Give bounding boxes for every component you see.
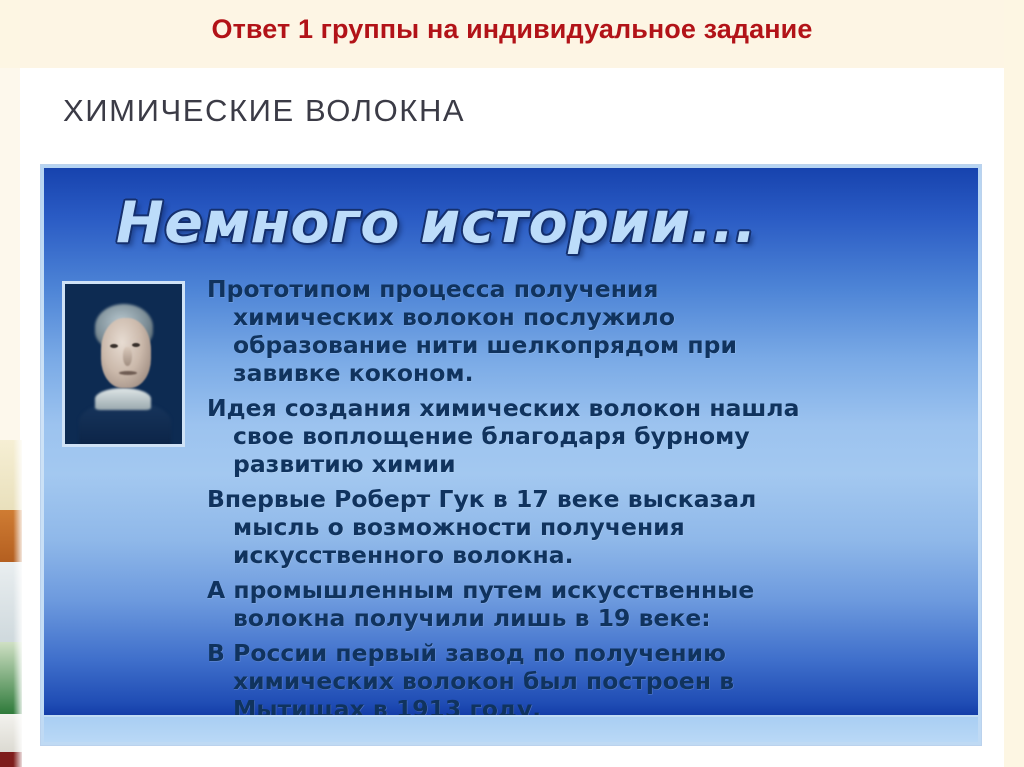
- portrait-eye-right: [132, 343, 140, 347]
- bullet-line: искусственного волокна.: [233, 541, 937, 569]
- portrait-frame: [62, 281, 185, 447]
- bullet-line: Идея создания химических волокон нашла: [207, 394, 937, 422]
- bullet-item-1: Прототипом процесса получения химических…: [207, 275, 937, 387]
- portrait-eye-left: [110, 344, 118, 348]
- bullet-line: химических волокон был построен в: [233, 667, 937, 695]
- portrait-nose: [123, 347, 132, 366]
- left-photo-strip: [0, 440, 22, 767]
- bullet-line: образование нити шелкопрядом при: [233, 331, 937, 359]
- slide-wordart-title: Немного истории...: [116, 190, 757, 256]
- top-banner: Ответ 1 группы на индивидуальное задание: [0, 0, 1024, 68]
- bullet-line: химических волокон послужило: [233, 303, 937, 331]
- portrait-mouth: [119, 371, 137, 375]
- bullet-line: мысль о возможности получения: [233, 513, 937, 541]
- bullet-line: А промышленным путем искусственные: [207, 576, 937, 604]
- page-title: Ответ 1 группы на индивидуальное задание: [0, 14, 1024, 45]
- slide-bullet-list: Прототипом процесса получения химических…: [207, 275, 937, 715]
- bullet-item-4: А промышленным путем искусственные волок…: [207, 576, 937, 632]
- bullet-line: Впервые Роберт Гук в 17 веке высказал: [207, 485, 937, 513]
- presentation-page: Ответ 1 группы на индивидуальное задание…: [0, 0, 1024, 767]
- slide-content: Немного истории... Прототипом процесс: [44, 168, 978, 715]
- bullet-line: развитию химии: [233, 450, 937, 478]
- slide-bottom-strip: [44, 717, 978, 742]
- bullet-item-3: Впервые Роберт Гук в 17 веке высказал мы…: [207, 485, 937, 569]
- bullet-line: волокна получили лишь в 19 веке:: [233, 604, 937, 632]
- bullet-line: Прототипом процесса получения: [207, 275, 937, 303]
- right-margin-cream: [1004, 0, 1024, 767]
- bullet-line: завивке коконом.: [233, 359, 937, 387]
- robert-hooke-portrait: [65, 284, 182, 444]
- slide: Немного истории... Прототипом процесс: [41, 165, 981, 745]
- bullet-line: свое воплощение благодаря бурному: [233, 422, 937, 450]
- bullet-line: В России первый завод по получению: [207, 639, 937, 667]
- bullet-line: Мытищах в 1913 году.: [233, 695, 937, 715]
- portrait-collar: [95, 388, 151, 410]
- bullet-item-2: Идея создания химических волокон нашла с…: [207, 394, 937, 478]
- document-heading: ХИМИЧЕСКИЕ ВОЛОКНА: [63, 93, 465, 129]
- left-margin-white: [0, 68, 20, 440]
- bullet-item-5: В России первый завод по получению химич…: [207, 639, 937, 715]
- photo-fade-overlay: [0, 440, 22, 767]
